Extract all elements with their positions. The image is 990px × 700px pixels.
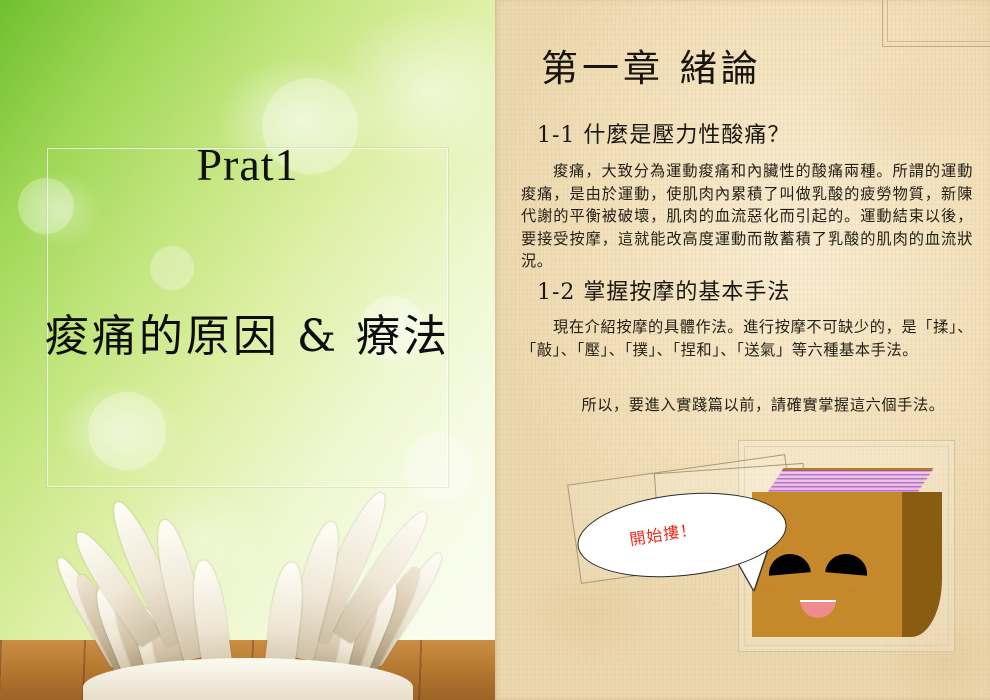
character-eye-right [825, 552, 869, 576]
closing-paragraph: 所以，要進入實踐篇以前，請確實掌握這六個手法。 [521, 394, 973, 417]
two-page-spread: Prat1 痠痛的原因 & 療法 [0, 0, 990, 700]
character-book-side [898, 492, 942, 637]
cover-title: Prat1 [47, 142, 448, 188]
section-paragraph-1-1: 痠痛，大致分為運動痠痛和內臟性的酸痛兩種。所謂的運動痠痛，是由於運動，使肌肉內累… [521, 160, 973, 273]
character-mouth [800, 600, 836, 618]
paper-stain [825, 40, 990, 180]
book-box-character: 〃 〃 [752, 468, 942, 648]
corner-ornament-frame [882, 0, 990, 47]
section-heading-1-2: 1-2 掌握按摩的基本手法 [537, 274, 790, 306]
text-page: 第一章 緒論 1-1 什麼是壓力性酸痛？ 痠痛，大致分為運動痠痛和內臟性的酸痛兩… [495, 0, 990, 700]
cover-page: Prat1 痠痛的原因 & 療法 [0, 0, 495, 700]
open-book-photo [0, 485, 495, 700]
section-paragraph-1-2: 現在介紹按摩的具體作法。進行按摩不可缺少的，是「揉」、「敲」、「壓」、「撲」、「… [521, 316, 973, 361]
cover-subtitle: 痠痛的原因 & 療法 [20, 312, 475, 363]
section-heading-1-1: 1-1 什麼是壓力性酸痛？ [537, 117, 790, 149]
book-pages-group [38, 515, 458, 700]
chapter-title: 第一章 緒論 [541, 38, 762, 92]
character-blush-right: 〃 [848, 584, 857, 597]
